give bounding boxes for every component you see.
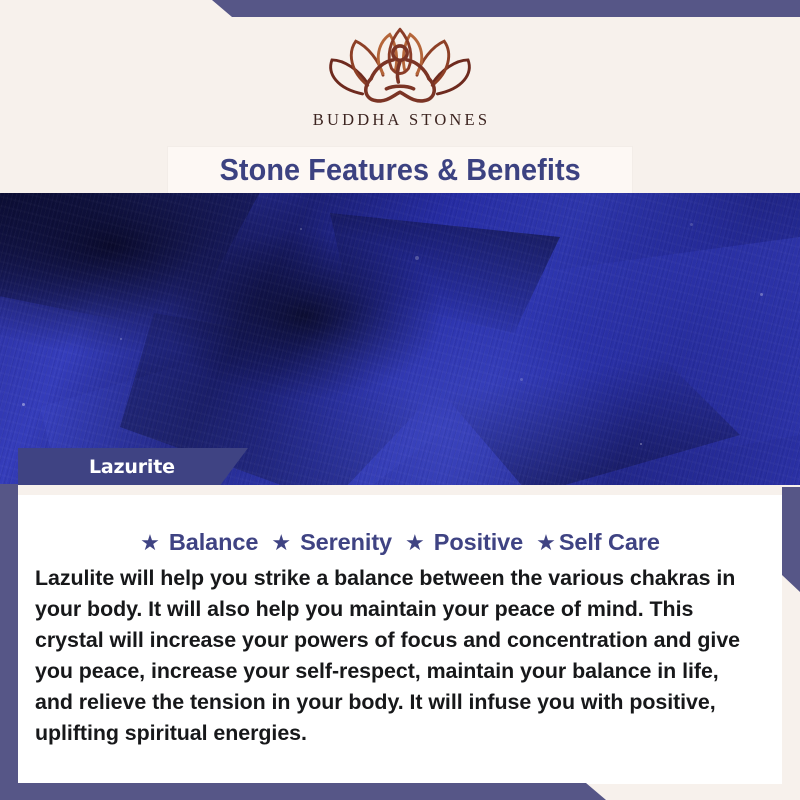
panel-top-accent — [18, 485, 782, 495]
frame-accent-right — [782, 487, 800, 592]
frame-accent-bottom — [0, 783, 800, 800]
benefit-item-self-care: Self Care — [559, 529, 660, 555]
frame-accent-left — [0, 484, 18, 786]
body-panel: ★Balance★Serenity★Positive★Self Care Laz… — [18, 485, 782, 784]
benefits-list: ★Balance★Serenity★Positive★Self Care — [18, 529, 782, 556]
benefit-item-serenity: Serenity — [300, 529, 392, 555]
page-title-ribbon: Stone Features & Benefits — [168, 147, 632, 193]
benefit-item-balance: Balance — [169, 529, 258, 555]
brand-logo: BUDDHA STONES — [0, 22, 800, 130]
brand-wordmark: BUDDHA STONES — [0, 110, 800, 130]
star-icon-1: ★ — [140, 530, 160, 555]
page-title: Stone Features & Benefits — [219, 152, 580, 188]
lotus-meditation-figure-icon — [315, 22, 485, 108]
star-icon-4: ★ — [536, 530, 556, 555]
lazurite-blue-stone-photo — [0, 193, 800, 485]
stone-benefits-infographic: BUDDHA STONES Stone Features & Benefits … — [0, 0, 800, 800]
stone-name-label: Lazurite — [89, 456, 175, 478]
star-icon-2: ★ — [271, 530, 291, 555]
stone-name-banner: Lazurite — [18, 448, 248, 485]
benefit-item-positive: Positive — [434, 529, 523, 555]
stone-description: Lazulite will help you strike a balance … — [35, 563, 759, 749]
star-icon-3: ★ — [405, 530, 425, 555]
